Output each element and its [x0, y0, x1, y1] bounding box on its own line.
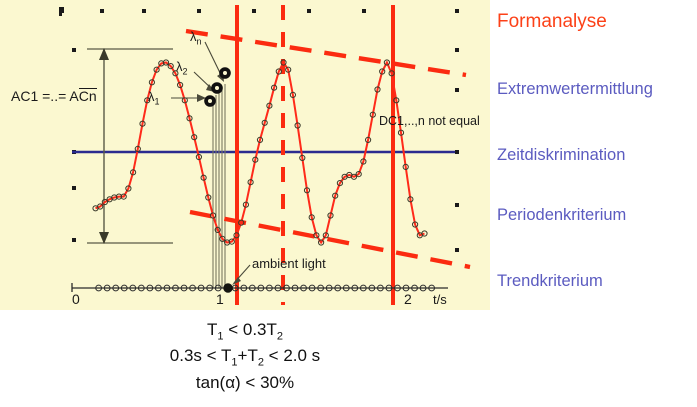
- x-tick-label-0: 0: [72, 291, 80, 307]
- ppg-waveform-chart: [0, 0, 490, 310]
- dc-note-label: DC1,..,n not equal: [379, 114, 480, 128]
- legend-item-extremwertermittlung[interactable]: Extremwertermittlung: [497, 80, 653, 99]
- lambda-drop-lines: [213, 84, 225, 288]
- legend-item-zeitdiskrimination[interactable]: Zeitdiskrimination: [497, 146, 625, 165]
- analysis-step-list: Formanalyse Extremwertermittlung Zeitdis…: [497, 0, 697, 310]
- slide-root: AC1 =..= ACn DC1,..,n not equal ambient …: [0, 0, 697, 407]
- legend-item-periodenkriterium[interactable]: Periodenkriterium: [497, 206, 626, 225]
- legend-item-formanalyse[interactable]: Formanalyse: [497, 11, 607, 33]
- formula-line-2: 0.3s < T1+T2 < 2.0 s: [0, 344, 490, 370]
- lambda-n-label: λn: [190, 29, 202, 47]
- formula-line-3: tan(α) < 30%: [0, 371, 490, 396]
- legend-item-trendkriterium[interactable]: Trendkriterium: [497, 272, 603, 291]
- left-tick-marks: [72, 48, 459, 252]
- chart-panel: AC1 =..= ACn DC1,..,n not equal ambient …: [0, 0, 490, 310]
- ambient-sample-marker: [224, 284, 232, 292]
- lambda-1-label: λ1: [148, 89, 160, 107]
- x-tick-label-2: 2: [404, 291, 412, 307]
- formula-line-1: T1 < 0.3T2: [0, 318, 490, 344]
- criteria-formulas: T1 < 0.3T2 0.3s < T1+T2 < 2.0 s tan(α) <…: [0, 318, 490, 396]
- top-tick-marks: [59, 7, 459, 16]
- ambient-light-label: ambient light: [252, 256, 326, 271]
- x-tick-label-1: 1: [216, 291, 224, 307]
- ac-amplitude-label: AC1 =..= ACn: [11, 88, 97, 104]
- x-axis-unit-label: t/s: [433, 292, 447, 307]
- ambient-pointer-arrow: [232, 265, 250, 285]
- amplitude-measure-arrow: [87, 48, 173, 244]
- lambda-2-label: λ2: [176, 59, 188, 77]
